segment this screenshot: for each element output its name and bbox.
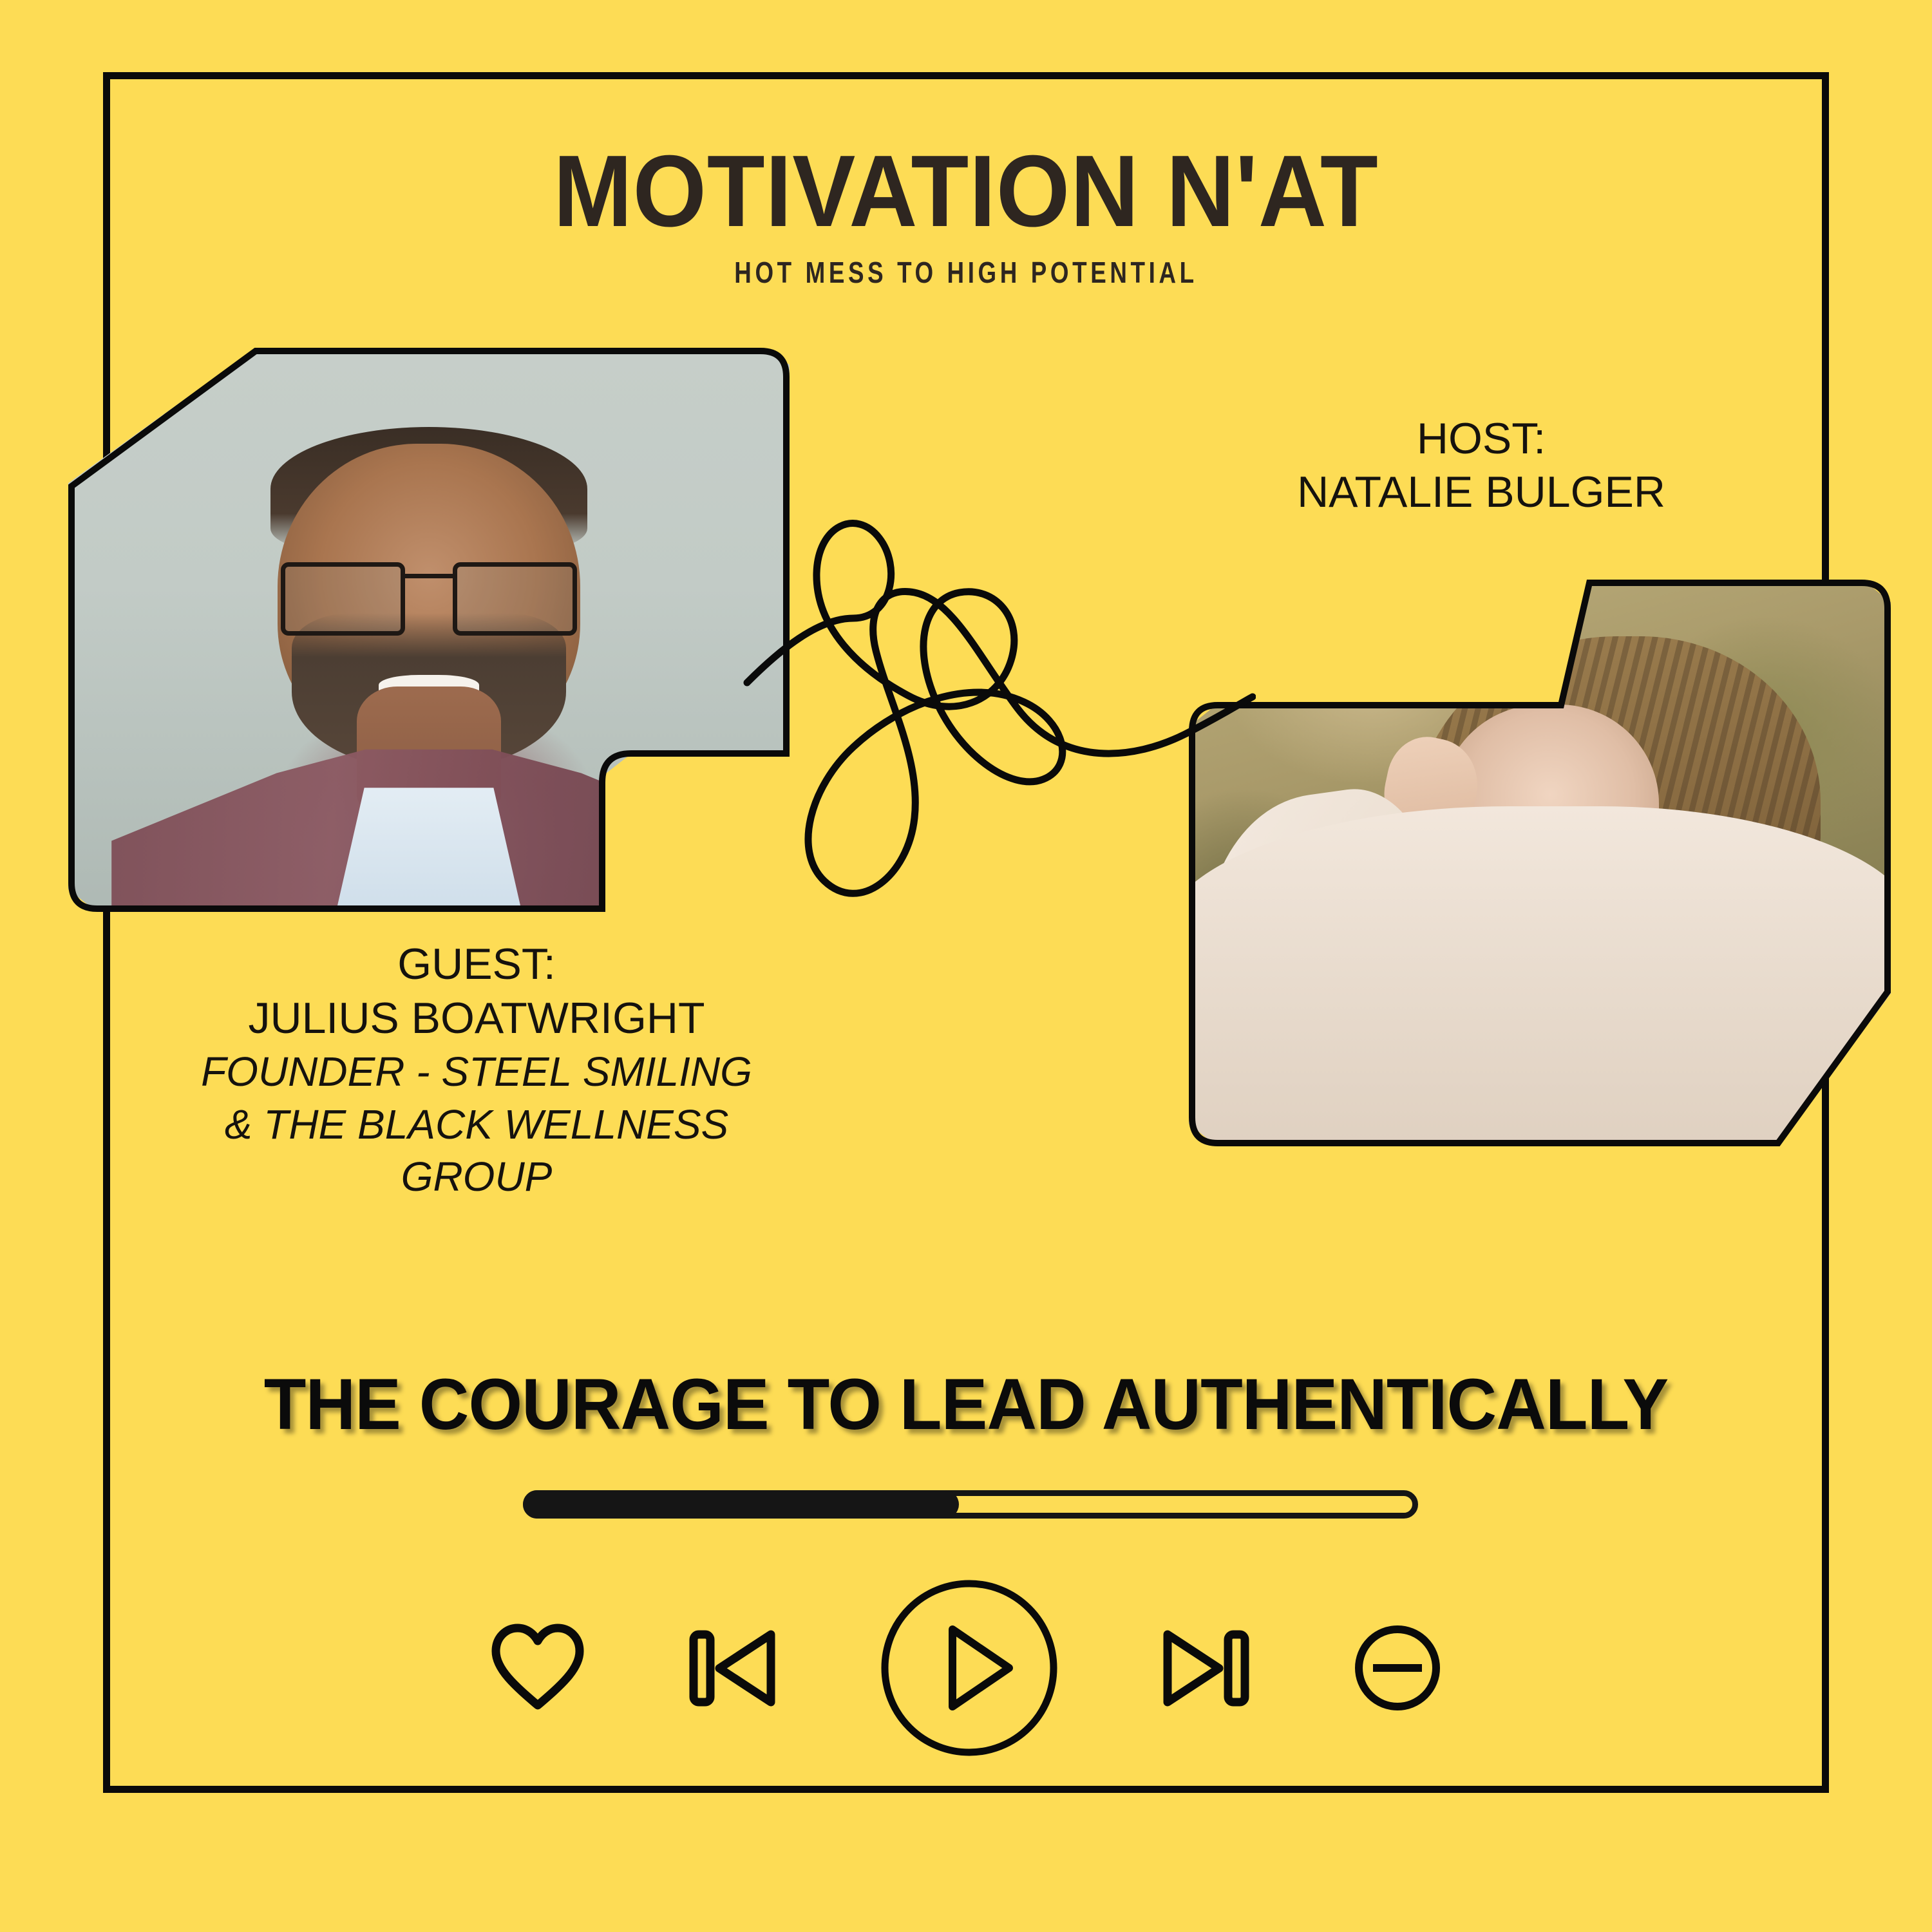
show-title: MOTIVATION N'AT bbox=[68, 140, 1864, 242]
play-button[interactable] bbox=[879, 1578, 1059, 1758]
podcast-episode-poster: MOTIVATION N'AT HOT MESS TO HIGH POTENTI… bbox=[0, 0, 1932, 1932]
like-icon bbox=[489, 1623, 586, 1713]
host-photo bbox=[1189, 580, 1891, 1146]
guest-photo-card bbox=[68, 348, 790, 912]
episode-title: THE COURAGE TO LEAD AUTHENTICALLY bbox=[39, 1368, 1893, 1441]
guest-name: JULIUS BOATWRIGHT bbox=[249, 994, 705, 1043]
guest-label: GUEST: bbox=[397, 940, 556, 989]
previous-track-button[interactable] bbox=[686, 1622, 779, 1715]
guest-credit: GUEST: JULIUS BOATWRIGHT FOUNDER - STEEL… bbox=[116, 937, 837, 1204]
host-sweater bbox=[1189, 806, 1891, 1146]
volume-down-button[interactable] bbox=[1352, 1623, 1443, 1713]
guest-role-line-2: & THE BLACK WELLNESS bbox=[116, 1099, 837, 1151]
next-track-icon bbox=[1159, 1622, 1253, 1715]
play-icon bbox=[879, 1578, 1059, 1758]
previous-track-icon bbox=[686, 1622, 779, 1715]
host-label: HOST: bbox=[1417, 414, 1546, 463]
guest-photo bbox=[68, 348, 790, 912]
progress-bar-fill bbox=[523, 1490, 959, 1519]
like-button[interactable] bbox=[489, 1623, 586, 1713]
progress-bar-track[interactable] bbox=[523, 1490, 1418, 1519]
show-tagline: HOT MESS TO HIGH POTENTIAL bbox=[193, 258, 1739, 287]
host-credit: HOST: NATALIE BULGER bbox=[1159, 412, 1803, 519]
volume-down-icon bbox=[1352, 1623, 1443, 1713]
host-name: NATALIE BULGER bbox=[1297, 468, 1665, 516]
guest-glasses-icon bbox=[281, 562, 576, 636]
guest-role-line-3: GROUP bbox=[116, 1151, 837, 1204]
player-controls bbox=[489, 1571, 1443, 1765]
tangled-line-doodle bbox=[741, 489, 1256, 902]
guest-role-line-1: FOUNDER - STEEL SMILING bbox=[116, 1046, 837, 1099]
next-track-button[interactable] bbox=[1159, 1622, 1253, 1715]
host-photo-card bbox=[1189, 580, 1891, 1146]
